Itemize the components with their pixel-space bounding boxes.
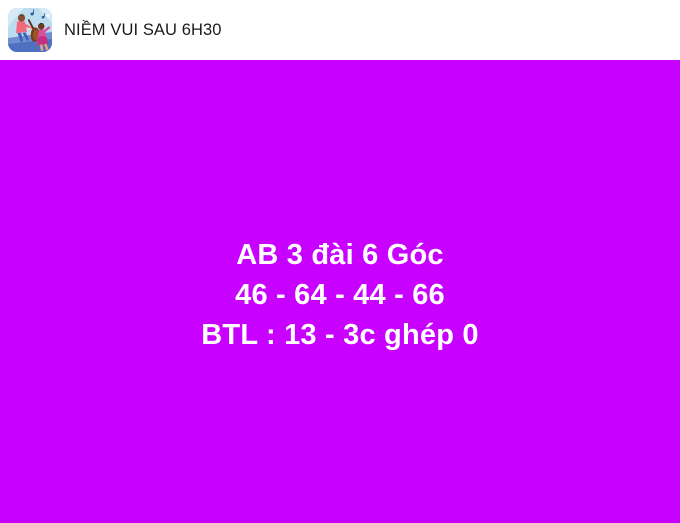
post-header: NIỀM VUI SAU 6H30: [0, 0, 680, 60]
post-text-block: AB 3 đài 6 Góc 46 - 64 - 44 - 66 BTL : 1…: [0, 235, 680, 355]
group-musicians-avatar-icon: [8, 8, 52, 52]
post-line-1: AB 3 đài 6 Góc: [0, 235, 680, 275]
post-line-3: BTL : 13 - 3c ghép 0: [0, 315, 680, 355]
page-title: NIỀM VUI SAU 6H30: [64, 22, 222, 39]
post-line-2: 46 - 64 - 44 - 66: [0, 275, 680, 315]
avatar[interactable]: [8, 8, 52, 52]
post-background: AB 3 đài 6 Góc 46 - 64 - 44 - 66 BTL : 1…: [0, 60, 680, 523]
app-root: NIỀM VUI SAU 6H30 AB 3 đài 6 Góc 46 - 64…: [0, 0, 680, 523]
